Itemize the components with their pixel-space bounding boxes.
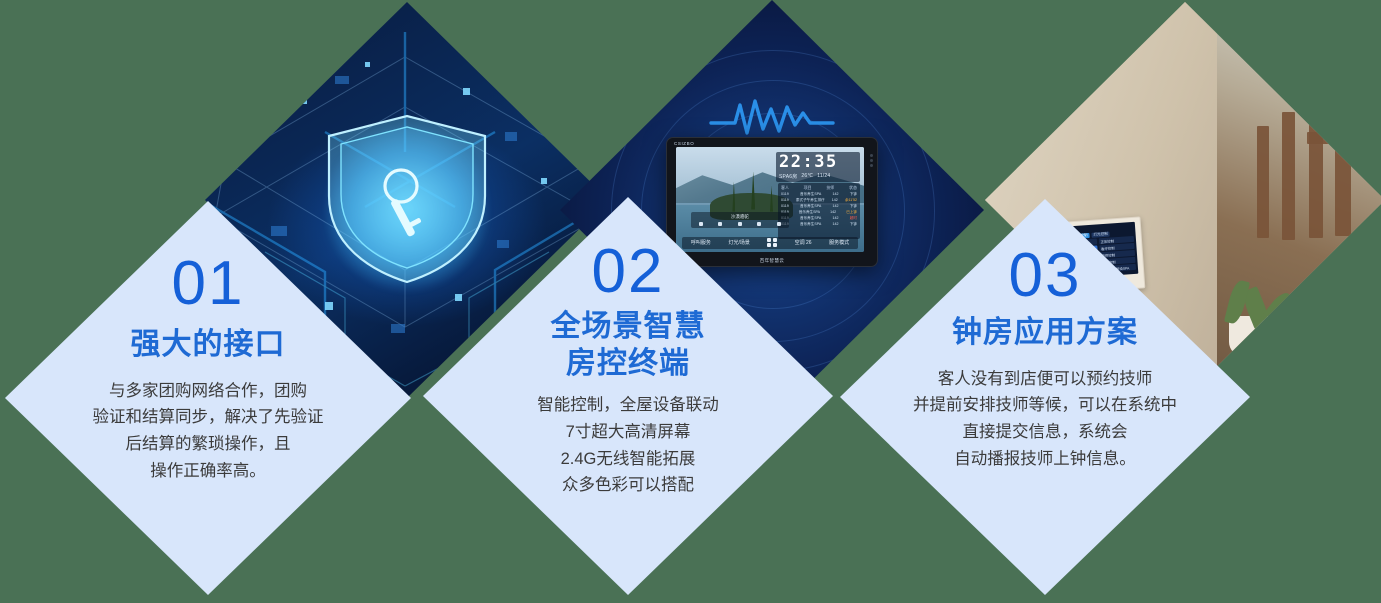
card-body-line: 操作正确率高。 [43, 458, 373, 485]
card-heading-02-line-2: 房控终端 [458, 346, 798, 383]
card-body-01: 与多家团购网络合作，团购验证和结算同步，解决了先验证后结算的繁琐操作，且操作正确… [43, 378, 373, 485]
col-status: 状态 [849, 185, 857, 191]
card-heading-02-line-1: 全场景智慧 [458, 309, 798, 346]
col-guest: 客人 [781, 185, 789, 191]
tablet-device: CSIZBO 22:35 SPA6房 26℃ 11/24 [666, 137, 878, 267]
tablet-bottom-bar[interactable]: 呼叫服务 灯光/场景 空调 26 服务模式 [682, 237, 858, 249]
media-player-widget[interactable]: 沙漠骆驼 [691, 212, 789, 229]
clock-widget: 22:35 SPA6房 26℃ 11/24 [776, 152, 860, 182]
card-heading-01-line-1: 强大的接口 [43, 327, 373, 364]
btn-service-mode[interactable]: 服务模式 [829, 239, 849, 246]
play-icon[interactable] [718, 222, 722, 226]
room-label: SPA6房 [779, 173, 797, 180]
card-body-line: 客人没有到店便可以预约技师 [870, 366, 1220, 393]
card-body-line: 验证和结算同步，解决了先验证 [43, 404, 373, 431]
promo-banner: 发光盾牌钥匙与电路板科技图 CSIZBO 22:35 [0, 0, 1381, 603]
btn-light-scene[interactable]: 灯光/场景 [728, 239, 749, 246]
card-heading-03: 钟房应用方案 [870, 315, 1220, 352]
card-heading-02: 全场景智慧 房控终端 [458, 309, 798, 382]
card-body-line: 7寸超大高清屏幕 [458, 419, 798, 446]
service-list-header: 客人 项目 技师 状态 [780, 185, 858, 192]
temperature-label: 26℃ [801, 173, 813, 180]
media-track-title: 沙漠骆驼 [691, 212, 789, 220]
card-body-line: 2.4G无线智能拓展 [458, 446, 798, 473]
card-body-line: 智能控制，全屋设备联动 [458, 392, 798, 419]
service-list-widget[interactable]: 客人 项目 技师 状态 0119音乐养生SPA142下钟0119泰式子午养生排疗… [778, 183, 860, 239]
card-body-03: 客人没有到店便可以预约技师并提前安排技师等候，可以在系统中直接提交信息，系统会自… [870, 366, 1220, 473]
card-body-line: 直接提交信息，系统会 [870, 419, 1220, 446]
wood-slat-1 [1335, 86, 1351, 236]
tablet-brand: CSIZBO [674, 141, 694, 146]
tablet-footer-logo: 百年智慧云 [760, 258, 785, 264]
btn-call-service[interactable]: 呼叫服务 [691, 239, 711, 246]
tablet-screen[interactable]: 22:35 SPA6房 26℃ 11/24 客人 项目 技师 状态 0119音乐… [676, 147, 864, 252]
wood-slat-3 [1282, 112, 1295, 240]
clock-subline: SPA6房 26℃ 11/24 [779, 173, 857, 180]
card-body-02: 智能控制，全屋设备联动7寸超大高清屏幕2.4G无线智能拓展众多色彩可以搭配 [458, 392, 798, 499]
media-controls[interactable] [691, 220, 789, 226]
list-icon[interactable] [777, 222, 781, 226]
card-body-line: 后结算的繁琐操作，且 [43, 431, 373, 458]
prev-icon[interactable] [699, 222, 703, 226]
service-list-row: 0119音乐养生SPA142下钟 [780, 222, 858, 228]
clock-time: 22:35 [779, 154, 857, 171]
card-body-line: 自动播报技师上钟信息。 [870, 446, 1220, 473]
service-list-rows: 0119音乐养生SPA142下钟0119泰式子午养生排疗142余11'52011… [780, 192, 858, 228]
heartbeat-pulse-icon [709, 95, 835, 139]
card-body-line: 与多家团购网络合作，团购 [43, 378, 373, 405]
date-label: 11/24 [817, 173, 830, 180]
tablet-side-buttons [870, 154, 874, 180]
wood-slat-2 [1309, 98, 1323, 238]
wood-slat-4 [1257, 126, 1269, 238]
card-body-line: 并提前安排技师等候，可以在系统中 [870, 392, 1220, 419]
wood-rail [1307, 132, 1367, 144]
apps-grid-icon[interactable] [767, 238, 777, 248]
col-tech: 技师 [826, 185, 834, 191]
volume-icon[interactable] [757, 222, 761, 226]
btn-air-conditioner[interactable]: 空调 26 [795, 239, 812, 246]
card-heading-03-line-1: 钟房应用方案 [870, 315, 1220, 352]
card-body-line: 众多色彩可以搭配 [458, 472, 798, 499]
next-icon[interactable] [738, 222, 742, 226]
card-heading-01: 强大的接口 [43, 327, 373, 364]
col-project: 项目 [804, 185, 812, 191]
